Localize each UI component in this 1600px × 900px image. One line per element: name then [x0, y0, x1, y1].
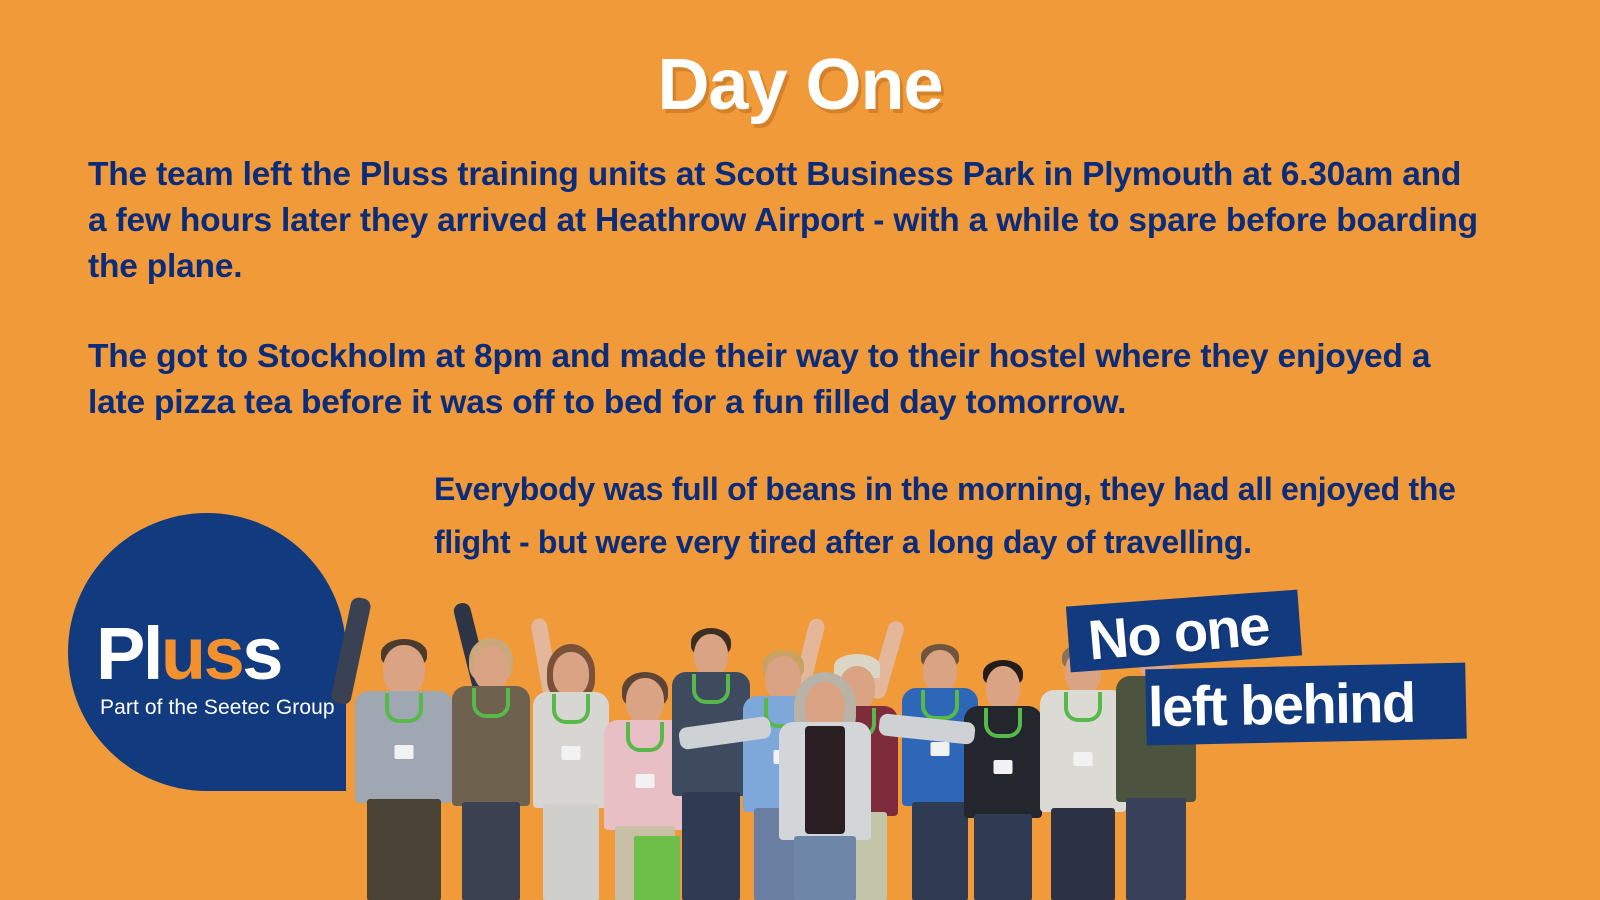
legs [794, 836, 856, 900]
lanyard [552, 694, 590, 724]
pluss-tagline: Part of the Seetec Group [100, 696, 335, 720]
legs [682, 792, 740, 900]
head [694, 634, 728, 676]
lanyard [1064, 692, 1102, 722]
head [383, 645, 425, 695]
head [923, 650, 957, 692]
head [626, 678, 664, 724]
name-badge [562, 746, 581, 760]
pluss-wordmark: Pluss [96, 617, 281, 691]
head [986, 666, 1020, 710]
group-photo [345, 583, 1155, 900]
head [473, 646, 509, 690]
wordmark-part-three: s [242, 612, 281, 695]
poster-canvas: Day One The team left the Pluss training… [0, 0, 1600, 900]
legs [1126, 798, 1186, 900]
name-badge [994, 760, 1013, 774]
legs [367, 799, 441, 900]
name-badge [636, 774, 655, 788]
legs [1051, 808, 1115, 900]
lanyard [984, 708, 1022, 738]
person-10 [959, 620, 1047, 900]
paragraph-one: The team left the Pluss training units a… [88, 152, 1488, 290]
head [553, 652, 589, 696]
paragraph-two: The got to Stockholm at 8pm and made the… [88, 334, 1488, 426]
legs [543, 804, 599, 900]
lanyard [472, 688, 510, 718]
wordmark-part-two: us [161, 612, 242, 695]
paragraph-three: Everybody was full of beans in the morni… [434, 463, 1494, 570]
person-centre [735, 660, 915, 900]
name-badge [931, 742, 950, 756]
legs [462, 802, 520, 900]
lanyard [385, 693, 423, 723]
page-title: Day One [0, 48, 1600, 124]
name-badge [395, 745, 414, 759]
legs [974, 814, 1032, 900]
lanyard [626, 722, 664, 752]
floral-top [805, 726, 845, 834]
lanyard [692, 674, 730, 704]
name-badge [1074, 752, 1093, 766]
wordmark-part-one: Pl [96, 612, 161, 695]
lanyard [921, 690, 959, 720]
badge-line-two: left behind [1147, 670, 1415, 740]
